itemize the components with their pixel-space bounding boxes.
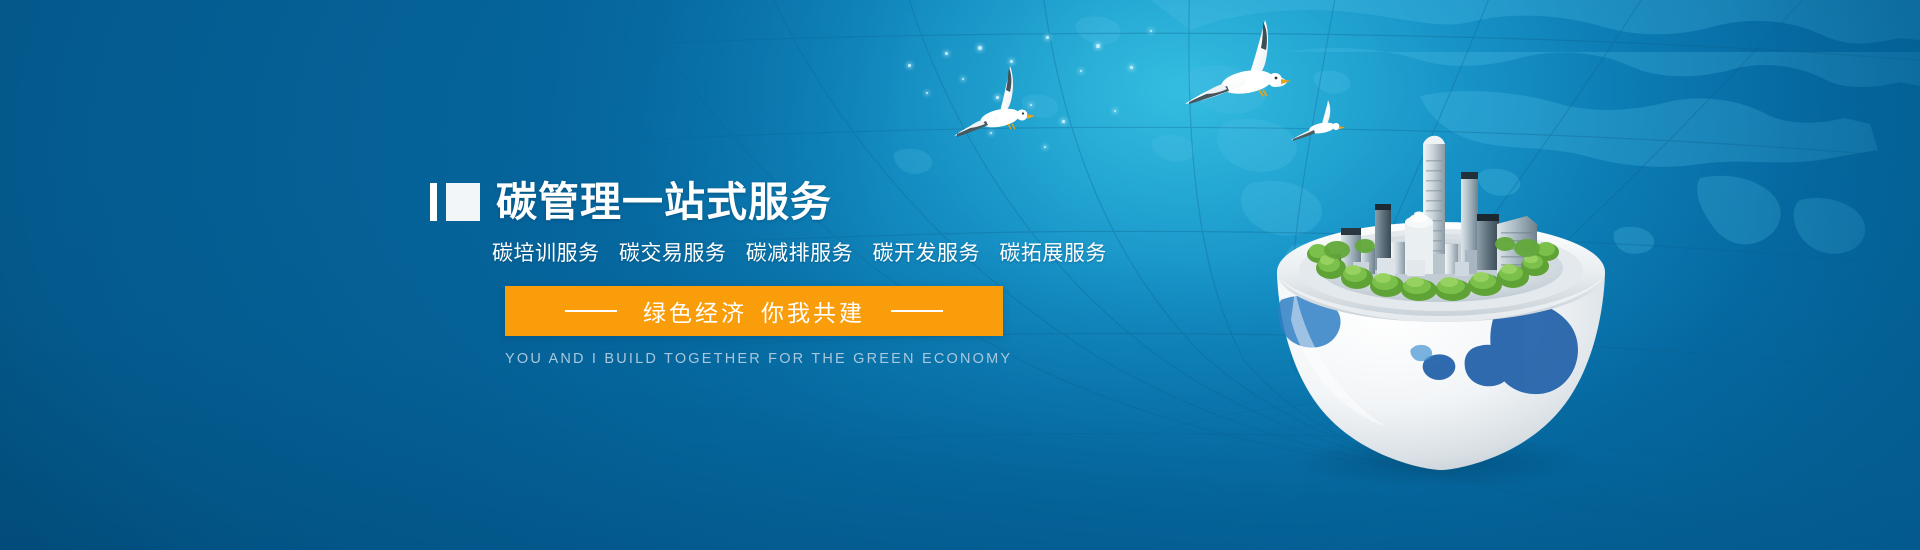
slogan-banner: 绿色经济你我共建 [505,286,1003,336]
vertical-bar-icon [430,183,437,221]
service-item-2[interactable]: 碳交易服务 [619,242,727,265]
title-row: 碳管理一站式服务 [430,178,1070,226]
hero-banner: 碳管理一站式服务 碳培训服务 碳交易服务 碳减排服务 碳开发服务 碳拓展服务 绿… [0,0,1920,550]
banner-content: 碳管理一站式服务 碳培训服务 碳交易服务 碳减排服务 碳开发服务 碳拓展服务 绿… [430,178,1070,367]
slogan-text-left: 绿色经济 [643,300,747,326]
slogan-dash-right [891,310,943,312]
slogan-text-right: 你我共建 [761,300,865,326]
filled-square-icon [446,183,480,221]
slogan-dash-left [565,310,617,312]
service-item-3[interactable]: 碳减排服务 [746,242,854,265]
service-item-5[interactable]: 碳拓展服务 [999,242,1107,265]
slogan-text: 绿色经济你我共建 [643,294,865,328]
english-tagline: YOU AND I BUILD TOGETHER FOR THE GREEN E… [505,351,1003,367]
page-title: 碳管理一站式服务 [496,182,832,223]
service-item-4[interactable]: 碳开发服务 [873,242,981,265]
service-list: 碳培训服务 碳交易服务 碳减排服务 碳开发服务 碳拓展服务 [492,237,1070,267]
brand-mark [430,183,480,221]
service-item-1[interactable]: 碳培训服务 [492,242,600,265]
